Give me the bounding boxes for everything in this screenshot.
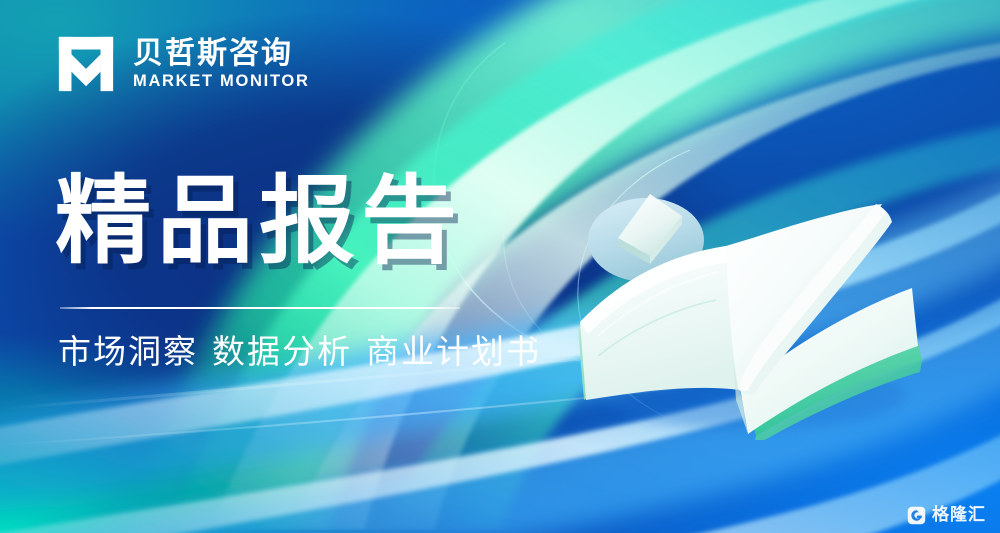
subtitle: 市场洞察数据分析商业计划书 [58,330,541,375]
subtitle-item-2: 商业计划书 [366,332,541,371]
title-divider [60,307,460,309]
brand-name-en: MARKET MONITOR [133,72,310,90]
brand-name-cn: 贝哲斯咨询 [133,38,310,70]
gelonghui-g-icon [907,506,926,525]
open-book-3d-illustration [540,150,960,440]
bracket-m-logo-icon [55,33,117,95]
subtitle-item-0: 市场洞察 [58,332,198,371]
page-title: 精品报告 [55,168,463,276]
subtitle-item-1: 数据分析 [212,332,352,371]
watermark: 格隆汇 [907,506,986,525]
report-cover-banner: 贝哲斯咨询 MARKET MONITOR 精品报告 市场洞察数据分析商业计划书 [0,0,1000,533]
brand-lockup: 贝哲斯咨询 MARKET MONITOR [55,33,310,95]
watermark-text: 格隆汇 [932,507,986,524]
